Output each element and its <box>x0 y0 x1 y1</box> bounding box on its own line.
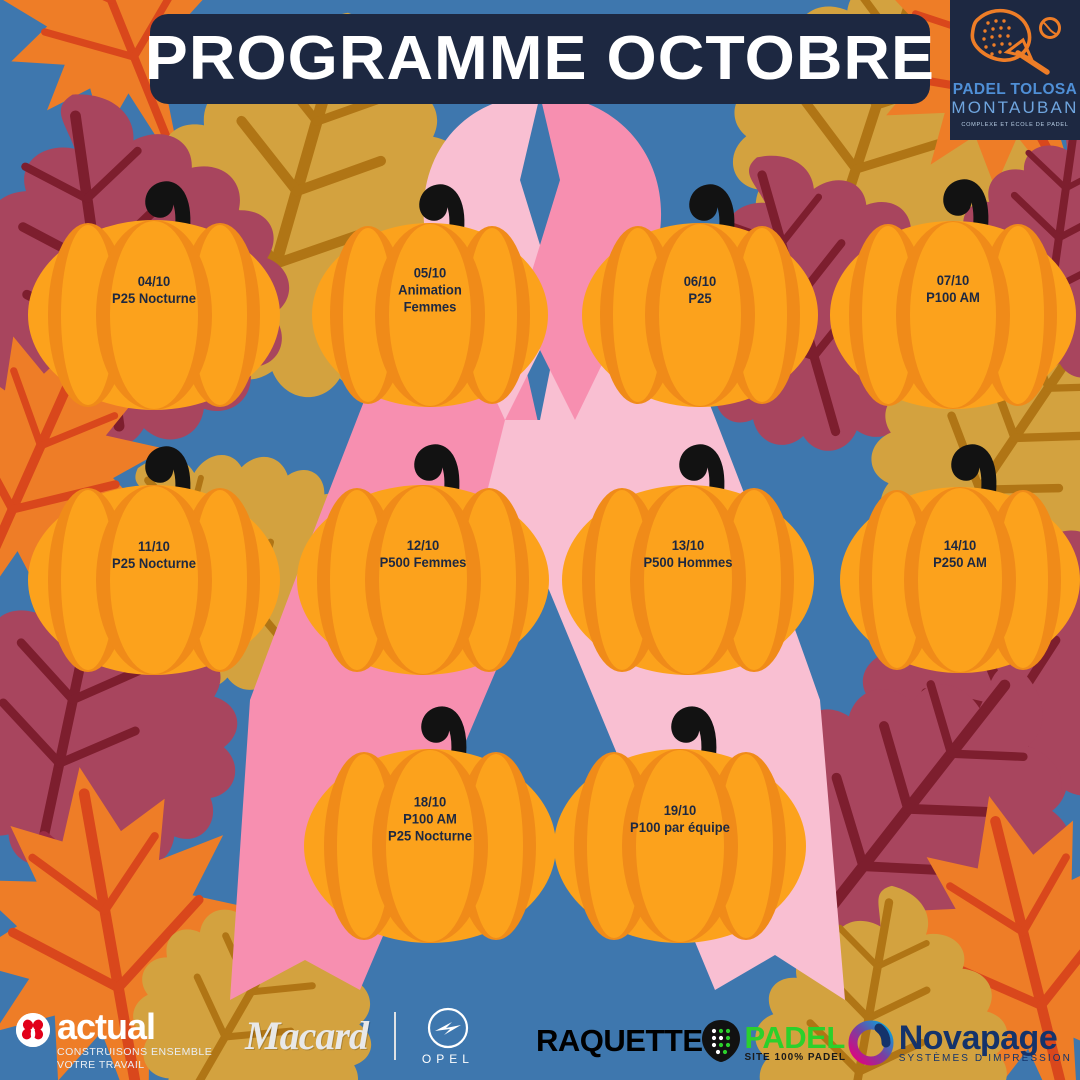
sponsor-novapage[interactable]: Novapage SYSTÈMES D'IMPRESSION <box>848 1020 1072 1066</box>
sponsor-actual[interactable]: actual CONSTRUISONS ENSEMBLE VOTRE TRAVA… <box>16 1010 212 1072</box>
pumpkin-shape <box>302 690 558 948</box>
event-pumpkin-9[interactable]: 19/10 P100 par équipe <box>552 690 808 948</box>
event-pumpkin-1[interactable]: 05/10 Animation Femmes <box>310 170 550 410</box>
actual-tagline-1: CONSTRUISONS ENSEMBLE <box>57 1046 212 1058</box>
opel-name: OPEL <box>422 1052 474 1066</box>
pumpkin-shape <box>580 170 820 410</box>
brand-name: PADEL TOLOSA <box>953 81 1078 99</box>
actual-name: actual <box>57 1010 212 1043</box>
raquette-padel-icon <box>699 1018 743 1064</box>
macard-name: Macard <box>245 1016 368 1056</box>
page-title: PROGRAMME OCTOBRE <box>145 28 935 90</box>
brand-tagline: COMPLEXE ET ÉCOLE DE PADEL <box>961 122 1068 128</box>
sponsor-macard-opel[interactable]: Macard OPEL <box>245 1006 474 1066</box>
event-pumpkin-5[interactable]: 12/10 P500 Femmes <box>295 428 551 680</box>
novapage-tagline: SYSTÈMES D'IMPRESSION <box>899 1053 1072 1064</box>
event-pumpkin-6[interactable]: 13/10 P500 Hommes <box>560 428 816 680</box>
pumpkin-shape <box>838 430 1080 678</box>
raquette-word: RAQUETTE <box>536 1023 703 1059</box>
pumpkin-shape <box>560 428 816 680</box>
event-pumpkin-8[interactable]: 18/10 P100 AM P25 Nocturne <box>302 690 558 948</box>
sponsor-divider <box>394 1012 396 1060</box>
padel-racket-icon <box>963 6 1067 80</box>
brand-city: MONTAUBAN <box>951 98 1078 118</box>
pumpkin-shape <box>26 430 282 680</box>
pumpkin-shape <box>552 690 808 948</box>
header-banner: PROGRAMME OCTOBRE <box>150 14 930 104</box>
padel-word: PADEL <box>745 1020 847 1056</box>
actual-tagline-2: VOTRE TRAVAIL <box>57 1059 145 1071</box>
opel-blitz-icon <box>426 1006 470 1050</box>
poster-canvas: PROGRAMME OCTOBRE PADEL TOLOSA MONTAUBAN… <box>0 0 1080 1080</box>
event-pumpkin-0[interactable]: 04/10 P25 Nocturne <box>26 165 282 415</box>
brand-logo: PADEL TOLOSA MONTAUBAN COMPLEXE ET ÉCOLE… <box>950 0 1080 140</box>
sponsor-strip: actual CONSTRUISONS ENSEMBLE VOTRE TRAVA… <box>0 1008 1080 1080</box>
pumpkin-shape <box>310 170 550 410</box>
event-pumpkin-2[interactable]: 06/10 P25 <box>580 170 820 410</box>
novapage-ring-icon <box>848 1020 894 1066</box>
novapage-name: Novapage <box>899 1022 1072 1054</box>
event-pumpkin-4[interactable]: 11/10 P25 Nocturne <box>26 430 282 680</box>
event-pumpkin-7[interactable]: 14/10 P250 AM <box>838 430 1080 678</box>
actual-clover-icon <box>16 1013 50 1047</box>
raquette-tagline: SITE 100% PADEL <box>745 1052 847 1063</box>
sponsor-raquette-padel[interactable]: RAQUETTE PADEL SITE 100% PADEL <box>536 1018 846 1064</box>
pumpkin-shape <box>828 165 1078 413</box>
event-pumpkin-3[interactable]: 07/10 P100 AM <box>828 165 1078 413</box>
pumpkin-shape <box>26 165 282 415</box>
pumpkin-shape <box>295 428 551 680</box>
